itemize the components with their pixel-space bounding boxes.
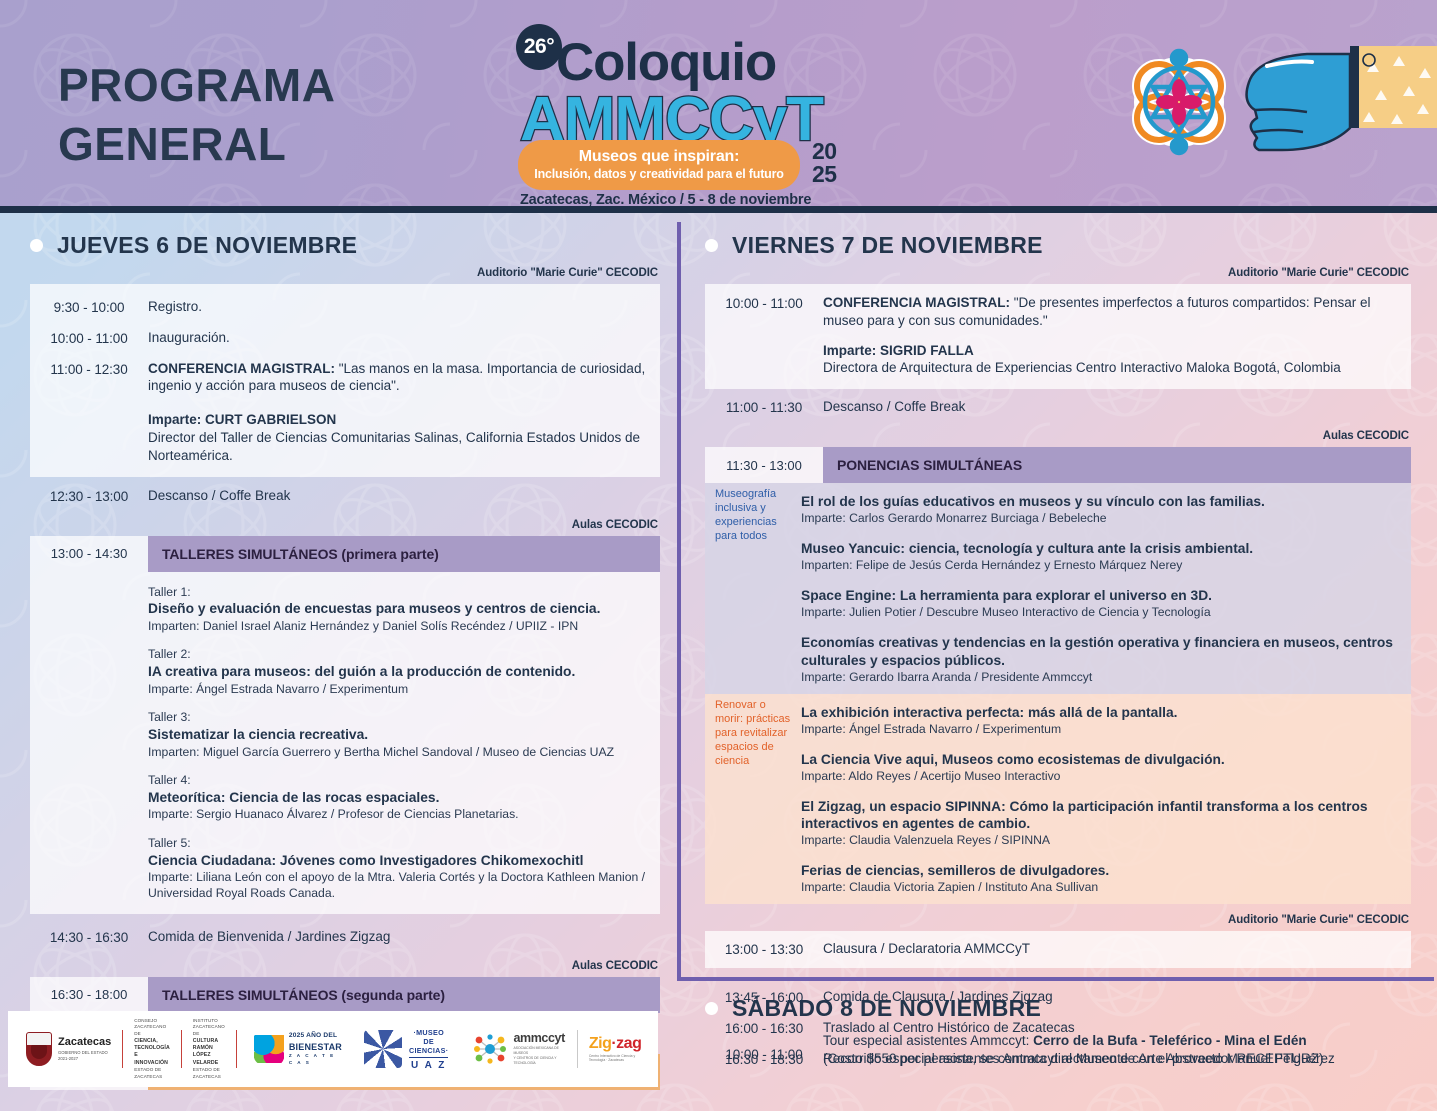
workshop-presenter: Imparte: Liliana León con el apoyo de la… — [148, 870, 648, 902]
workshop-number: Taller 5: — [148, 836, 648, 852]
row-time: 11:30 - 13:00 — [705, 447, 823, 483]
instituto-line1: INSTITUTO ZACATECANO DE — [193, 1018, 225, 1038]
row-time: 10:00 - 11:00 — [705, 294, 823, 313]
workshop-title: Ciencia Ciudadana: Jóvenes como Investig… — [148, 852, 648, 869]
tour-note: (Costo $550 por persona, se contrata dir… — [823, 1050, 1399, 1068]
row-time: 13:00 - 14:30 — [30, 536, 148, 572]
venue-label: Aulas CECODIC — [705, 430, 1409, 442]
atom-and-hand-illustration — [1107, 28, 1437, 178]
talk-item: Museo Yancuic: ciencia, tecnología y cul… — [801, 540, 1397, 574]
museo-label: ·MUSEO DE CIENCIAS· — [409, 1028, 448, 1055]
column-divider-vertical — [677, 222, 681, 978]
logo-museo-ciencias-uaz: ·MUSEO DE CIENCIAS· U A Z — [364, 1026, 448, 1072]
talk-item: Economías creativas y tendencias en la g… — [801, 634, 1397, 685]
ammccyt-dots-icon — [472, 1033, 508, 1065]
event-place: Zacatecas, Zac. México / 5 - 8 de noviem… — [520, 192, 811, 206]
workshop-presenter: Imparten: Daniel Israel Alaniz Hernández… — [148, 619, 648, 635]
talk-item: La Ciencia Vive aqui, Museos como ecosis… — [801, 751, 1397, 785]
workshop-presenter: Imparte: Sergio Huanaco Álvarez / Profes… — [148, 807, 648, 823]
uaz-crest-icon — [364, 1030, 402, 1068]
workshop-number: Taller 3: — [148, 710, 648, 726]
talk-title: Space Engine: La herramienta para explor… — [801, 587, 1397, 604]
gloved-hand-icon — [1247, 46, 1437, 150]
bullet-dot-icon — [705, 1002, 718, 1015]
ammccyt-wordmark: ammccyt — [513, 1032, 564, 1045]
track-label: Renovar o morir: prácticas para revitali… — [705, 694, 801, 905]
workshop-item: Taller 3: Sistematizar la ciencia recrea… — [148, 710, 648, 760]
row-text: Descanso / Coffe Break — [148, 487, 660, 505]
row-text: Clausura / Declaratoria AMMCCyT — [823, 940, 1411, 958]
uaz-label: U A Z — [409, 1060, 448, 1071]
schedule-row-speaker: Imparte: CURT GABRIELSON Director del Ta… — [30, 411, 660, 464]
speaker-role: Director del Taller de Ciencias Comunita… — [148, 429, 648, 465]
talk-title: El Zigzag, un espacio SIPINNA: Cómo la p… — [801, 798, 1397, 832]
schedule-row-speaker: Imparte: SIGRID FALLA Directora de Arqui… — [705, 342, 1411, 378]
track-talk-list: El rol de los guías educativos en museos… — [801, 483, 1411, 694]
day-title-thursday: JUEVES 6 DE NOVIEMBRE — [57, 232, 357, 259]
talk-presenter: Imparte: Ángel Estrada Navarro / Experim… — [801, 722, 1397, 738]
zigzag-zag: ·zag — [611, 1035, 641, 1052]
page-title-line1: PROGRAMA — [58, 56, 335, 115]
instituto-line3: ESTADO DE ZACATECAS — [193, 1067, 225, 1080]
slogan-line1: Museos que inspiran: — [530, 148, 788, 166]
row-text: CONFERENCIA MAGISTRAL: "Las manos en la … — [148, 360, 660, 396]
schedule-row: 9:30 - 10:00 Registro. — [30, 292, 660, 323]
track-label: Museografía inclusiva y experiencias par… — [705, 483, 801, 694]
instituto-line2: CULTURARAMÓN LÓPEZ VELARDE — [193, 1038, 219, 1066]
speaker-name: Imparte: SIGRID FALLA — [823, 343, 974, 358]
workshop-title: IA creativa para museos: del guión a la … — [148, 663, 648, 680]
venue-label: Auditorio "Marie Curie" CECODIC — [30, 267, 658, 279]
edition-badge: 26° — [516, 24, 562, 70]
keynote-label: CONFERENCIA MAGISTRAL: — [148, 361, 335, 376]
day-column-thursday: JUEVES 6 DE NOVIEMBRE Auditorio "Marie C… — [30, 232, 660, 1111]
track-talk-list: La exhibición interactiva perfecta: más … — [801, 694, 1411, 905]
day-header-thursday: JUEVES 6 DE NOVIEMBRE — [30, 232, 660, 259]
ponencias-band: 11:30 - 13:00 PONENCIAS SIMULTÁNEAS — [705, 447, 1411, 483]
page-title-line2: GENERAL — [58, 115, 335, 174]
venue-label: Aulas CECODIC — [30, 519, 658, 531]
row-time: 10:00 - 11:00 — [30, 329, 148, 348]
band-title: TALLERES SIMULTÁNEOS (primera parte) — [148, 536, 660, 572]
workshop-item: Taller 5: Ciencia Ciudadana: Jóvenes com… — [148, 836, 648, 902]
row-time: 13:00 - 13:30 — [705, 940, 823, 959]
talk-presenter: Imparten: Felipe de Jesús Cerda Hernánde… — [801, 558, 1397, 574]
zacatecas-sub: GOBIERNO DEL ESTADO2021-2027 — [58, 1050, 111, 1062]
logo-instituto-cultura: INSTITUTO ZACATECANO DE CULTURARAMÓN LÓP… — [193, 1026, 225, 1072]
sponsor-logo-bar: Zacatecas GOBIERNO DEL ESTADO2021-2027 C… — [8, 1011, 658, 1087]
zigzag-wordmark: Zig·zag — [589, 1036, 642, 1052]
talk-item: La exhibición interactiva perfecta: más … — [801, 704, 1397, 738]
venue-label: Aulas CECODIC — [30, 960, 658, 972]
talk-presenter: Imparte: Carlos Gerardo Monarrez Burciag… — [801, 511, 1397, 527]
logo-separator — [122, 1030, 123, 1068]
day-title-saturday: SÁBADO 8 DE NOVIEMBRE — [732, 995, 1041, 1022]
schedule-row: 13:00 - 13:30 Clausura / Declaratoria AM… — [705, 940, 1411, 959]
program-poster: PROGRAMA GENERAL 26° Coloquio AMMCCyT Mu… — [0, 0, 1437, 1111]
schedule-row-break: 12:30 - 13:00 Descanso / Coffe Break — [30, 477, 660, 512]
tour-prefix: Tour especial asistentes Ammccyt: — [823, 1033, 1033, 1048]
talk-item: El Zigzag, un espacio SIPINNA: Cómo la p… — [801, 798, 1397, 849]
workshops-list: Taller 1: Diseño y evaluación de encuest… — [30, 572, 660, 915]
bullet-dot-icon — [705, 239, 718, 252]
logo-coloquio: Coloquio — [556, 32, 776, 93]
talk-item: Space Engine: La herramienta para explor… — [801, 587, 1397, 621]
schedule-row-lunch: 14:30 - 16:30 Comida de Bienvenida / Jar… — [30, 914, 660, 953]
venue-label: Auditorio "Marie Curie" CECODIC — [705, 267, 1409, 279]
workshop-number: Taller 4: — [148, 773, 648, 789]
event-slogan: Museos que inspiran: Inclusión, datos y … — [518, 140, 800, 190]
tour-highlights: Cerro de la Bufa - Teleférico - Mina el … — [1033, 1033, 1307, 1048]
session-panel-closing: 13:00 - 13:30 Clausura / Declaratoria AM… — [705, 931, 1411, 968]
slogan-line2: Inclusión, datos y creatividad para el f… — [530, 167, 788, 181]
heart-icon — [254, 1035, 284, 1063]
day-header-friday: VIERNES 7 DE NOVIEMBRE — [705, 232, 1411, 259]
talk-item: Ferias de ciencias, semilleros de divulg… — [801, 862, 1397, 896]
bienestar-title: BIENESTAR — [289, 1041, 342, 1053]
talk-title: La Ciencia Vive aqui, Museos como ecosis… — [801, 751, 1397, 768]
row-time: 14:30 - 16:30 — [30, 928, 148, 947]
header-divider — [0, 206, 1437, 213]
schedule-row: 10:00 - 11:00 Inauguración. — [30, 323, 660, 354]
speaker-name: Imparte: CURT GABRIELSON — [148, 412, 336, 427]
talk-presenter: Imparte: Aldo Reyes / Acertijo Museo Int… — [801, 769, 1397, 785]
speaker-role: Directora de Arquitectura de Experiencia… — [823, 359, 1399, 377]
poster-header: PROGRAMA GENERAL 26° Coloquio AMMCCyT Mu… — [0, 0, 1437, 206]
row-text: Comida de Bienvenida / Jardines Zigzag — [148, 928, 660, 946]
consejo-line3: ESTADO DE ZACATECAS — [134, 1067, 170, 1080]
workshop-item: Taller 1: Diseño y evaluación de encuest… — [148, 585, 648, 635]
logo-ammccyt: ammccyt ASOCIACIÓN MEXICANA DE MUSEOSY C… — [472, 1026, 564, 1072]
workshop-presenter: Imparten: Miguel García Guerrero y Berth… — [148, 745, 648, 761]
day-column-friday: VIERNES 7 DE NOVIEMBRE Auditorio "Marie … — [705, 232, 1411, 1075]
track-panel-museografia: Museografía inclusiva y experiencias par… — [705, 483, 1411, 694]
workshop-number: Taller 2: — [148, 647, 648, 663]
workshop-items: Taller 1: Diseño y evaluación de encuest… — [148, 584, 660, 903]
logo-consejo-ciencia: CONSEJO ZACATECANO DE CIENCIA, TECNOLOGÍ… — [134, 1026, 170, 1072]
row-text: Inauguración. — [148, 329, 660, 347]
keynote-label: CONFERENCIA MAGISTRAL: — [823, 295, 1010, 310]
row-text: Registro. — [148, 298, 660, 316]
row-text: Descanso / Coffe Break — [823, 398, 1411, 416]
workshop-title: Meteorítica: Ciencia de las rocas espaci… — [148, 789, 648, 806]
row-time: 10:00 - 11:00 — [705, 1032, 823, 1064]
bienestar-state: Z A C A T E C A S — [289, 1053, 342, 1065]
day-column-saturday: SÁBADO 8 DE NOVIEMBRE 10:00 - 11:00 Tour… — [705, 995, 1411, 1068]
schedule-row-keynote: 10:00 - 11:00 CONFERENCIA MAGISTRAL: "De… — [705, 294, 1411, 330]
zacatecas-shield-icon — [26, 1032, 52, 1066]
page-title: PROGRAMA GENERAL — [58, 56, 335, 174]
schedule-row-cocktail: 19:00 - 20:00 Coctel / Terraza Zigzag — [30, 1090, 660, 1111]
venue-label: Auditorio "Marie Curie" CECODIC — [705, 914, 1409, 926]
schedule-row-tour: 10:00 - 11:00 Tour especial asistentes A… — [705, 1032, 1411, 1068]
event-year: 2025 — [812, 140, 837, 186]
logo-bienestar: 2025 AÑO DEL BIENESTAR Z A C A T E C A S — [254, 1026, 342, 1072]
day-header-saturday: SÁBADO 8 DE NOVIEMBRE — [705, 995, 1411, 1022]
talk-title: Economías creativas y tendencias en la g… — [801, 634, 1397, 668]
session-panel-morning: 9:30 - 10:00 Registro. 10:00 - 11:00 Ina… — [30, 284, 660, 477]
workshop-presenter: Imparte: Ángel Estrada Navarro / Experim… — [148, 682, 648, 698]
logo-zigzag: Zig·zag Centro Interactivo de Ciencia y … — [589, 1026, 642, 1072]
workshops-band-first: 13:00 - 14:30 TALLERES SIMULTÁNEOS (prim… — [30, 536, 660, 572]
talk-presenter: Imparte: Gerardo Ibarra Aranda / Preside… — [801, 670, 1397, 686]
workshop-item: Taller 4: Meteorítica: Ciencia de las ro… — [148, 773, 648, 823]
atom-icon — [1137, 51, 1221, 153]
schedule-row-keynote: 11:00 - 12:30 CONFERENCIA MAGISTRAL: "La… — [30, 354, 660, 402]
bienestar-year: 2025 AÑO DEL — [289, 1032, 342, 1041]
talk-title: El rol de los guías educativos en museos… — [801, 493, 1397, 510]
session-panel-keynote: 10:00 - 11:00 CONFERENCIA MAGISTRAL: "De… — [705, 284, 1411, 389]
talk-title: La exhibición interactiva perfecta: más … — [801, 704, 1397, 721]
zigzag-zig: Zig — [589, 1035, 612, 1052]
talk-presenter: Imparte: Claudia Valenzuela Reyes / SIPI… — [801, 833, 1397, 849]
talk-presenter: Imparte: Claudia Victoria Zapien / Insti… — [801, 880, 1397, 896]
row-time: 16:30 - 18:00 — [30, 977, 148, 1013]
logo-gobierno-zacatecas: Zacatecas GOBIERNO DEL ESTADO2021-2027 — [26, 1026, 111, 1072]
workshops-band-second: 16:30 - 18:00 TALLERES SIMULTÁNEOS (segu… — [30, 977, 660, 1013]
talk-item: El rol de los guías educativos en museos… — [801, 493, 1397, 527]
row-time: 12:30 - 13:00 — [30, 487, 148, 506]
logo-separator — [236, 1030, 237, 1068]
row-time: 11:00 - 11:30 — [705, 398, 823, 417]
band-title: TALLERES SIMULTÁNEOS (segunda parte) — [148, 977, 660, 1013]
row-time: 9:30 - 10:00 — [30, 298, 148, 317]
logo-separator — [181, 1030, 182, 1068]
workshop-item: Taller 2: IA creativa para museos: del g… — [148, 647, 648, 697]
workshop-number: Taller 1: — [148, 585, 648, 601]
talk-presenter: Imparte: Julien Potier / Descubre Museo … — [801, 605, 1397, 621]
divider-rule — [409, 1057, 448, 1058]
zigzag-sub: Centro Interactivo de Ciencia y Tecnolog… — [589, 1054, 642, 1062]
band-title: PONENCIAS SIMULTÁNEAS — [823, 447, 1411, 483]
talk-title: Museo Yancuic: ciencia, tecnología y cul… — [801, 540, 1397, 557]
track-panel-renovar: Renovar o morir: prácticas para revitali… — [705, 694, 1411, 905]
row-time: 11:00 - 12:30 — [30, 360, 148, 379]
consejo-line2: CIENCIA, TECNOLOGÍAE INNOVACIÓN — [134, 1038, 170, 1066]
consejo-line1: CONSEJO ZACATECANO DE — [134, 1018, 170, 1038]
bullet-dot-icon — [30, 239, 43, 252]
logo-separator — [577, 1030, 578, 1068]
talk-title: Ferias de ciencias, semilleros de divulg… — [801, 862, 1397, 879]
zacatecas-name: Zacatecas — [58, 1037, 111, 1048]
ammccyt-sub: ASOCIACIÓN MEXICANA DE MUSEOSY CENTROS D… — [513, 1046, 564, 1066]
schedule-row-break: 11:00 - 11:30 Descanso / Coffe Break — [705, 389, 1411, 423]
workshop-title: Sistematizar la ciencia recreativa. — [148, 726, 648, 743]
workshop-title: Diseño y evaluación de encuestas para mu… — [148, 600, 648, 617]
day-title-friday: VIERNES 7 DE NOVIEMBRE — [732, 232, 1043, 259]
